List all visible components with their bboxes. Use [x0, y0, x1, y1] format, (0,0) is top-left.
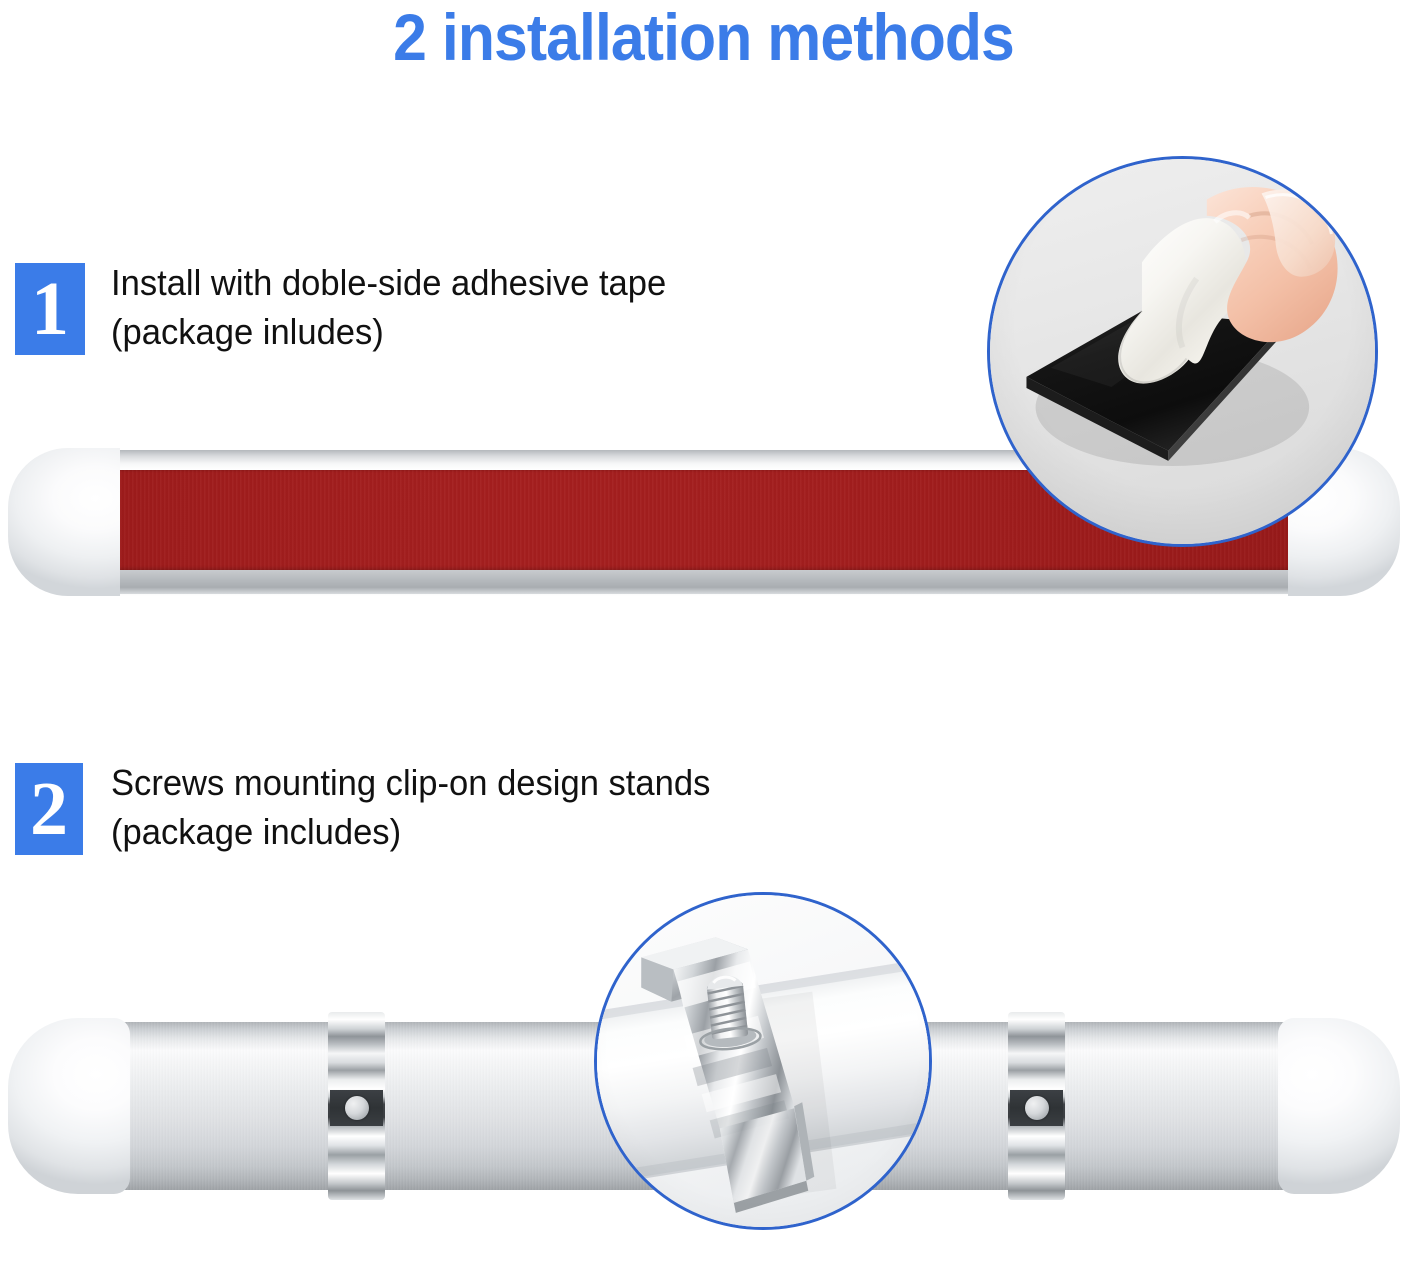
step-2-line-2: (package includes) [111, 807, 710, 856]
bar-left-end-cap [8, 1018, 130, 1194]
step-1-line-2: (package inludes) [111, 307, 666, 356]
bar-bottom-lip [100, 570, 1308, 594]
step-1-line-1: Install with doble-side adhesive tape [111, 262, 666, 303]
step-1-number-badge: 1 [15, 263, 85, 355]
step-1-description: Install with doble-side adhesive tape (p… [111, 258, 666, 356]
clip-screw-hole [345, 1096, 369, 1120]
step-2-number-badge: 2 [15, 763, 83, 855]
clip-stand-right [1008, 1012, 1065, 1200]
clip-screw-hole [1025, 1096, 1049, 1120]
clip-screw-closeup-photo [594, 892, 932, 1230]
bar-right-end-cap [1278, 1018, 1400, 1194]
bar-left-end-cap [8, 448, 120, 596]
clip-stand-left [328, 1012, 385, 1200]
page-title: 2 installation methods [56, 0, 1350, 76]
step-2-description: Screws mounting clip-on design stands (p… [111, 758, 710, 856]
step-2-line-1: Screws mounting clip-on design stands [111, 762, 710, 803]
adhesive-tape-peel-photo [987, 156, 1378, 547]
